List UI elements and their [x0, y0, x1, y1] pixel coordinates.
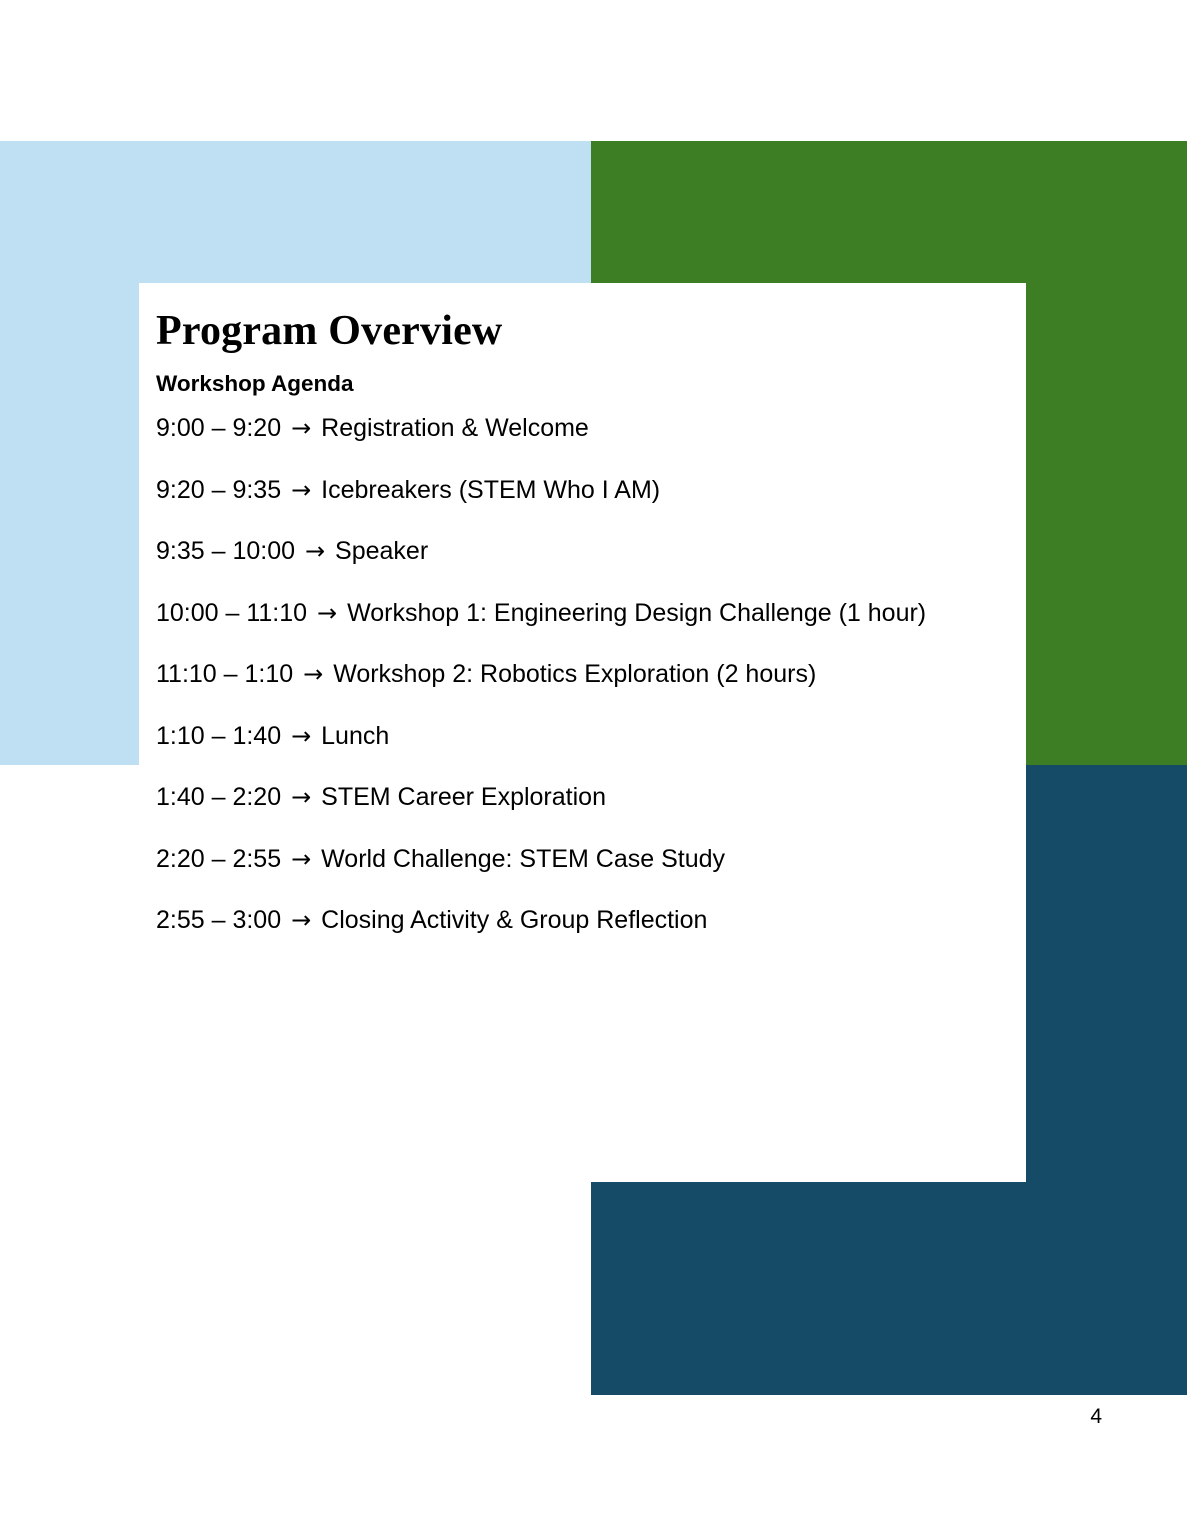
arrow-right-icon: →: [288, 414, 314, 442]
agenda-item: 9:20 – 9:35 → Icebreakers (STEM Who I AM…: [156, 473, 956, 509]
arrow-right-icon: →: [288, 476, 314, 504]
agenda-item-activity: Lunch: [321, 722, 389, 750]
agenda-item: 10:00 – 11:10 → Workshop 1: Engineering …: [156, 596, 956, 632]
arrow-right-icon: →: [288, 722, 314, 750]
agenda-item-time: 9:20 – 9:35: [156, 476, 281, 504]
agenda-item-activity: Closing Activity & Group Reflection: [321, 906, 707, 934]
agenda-item-activity: Speaker: [335, 537, 428, 565]
agenda-item-time: 1:10 – 1:40: [156, 722, 281, 750]
agenda-item: 2:20 – 2:55 → World Challenge: STEM Case…: [156, 842, 956, 878]
arrow-right-icon: →: [300, 660, 326, 688]
agenda-item: 9:00 – 9:20 → Registration & Welcome: [156, 411, 956, 447]
content-card: Program Overview Workshop Agenda 9:00 – …: [139, 283, 1026, 1182]
arrow-right-icon: →: [288, 906, 314, 934]
page-number: 4: [0, 1405, 1102, 1429]
agenda-item-activity: World Challenge: STEM Case Study: [321, 845, 725, 873]
agenda-item-activity: Icebreakers (STEM Who I AM): [321, 476, 660, 504]
arrow-right-icon: →: [314, 599, 340, 627]
agenda-item-time: 1:40 – 2:20: [156, 783, 281, 811]
agenda-item-time: 9:35 – 10:00: [156, 537, 295, 565]
agenda-item-time: 10:00 – 11:10: [156, 599, 307, 627]
agenda-item: 1:10 – 1:40 → Lunch: [156, 719, 956, 755]
agenda-item-activity: Registration & Welcome: [321, 414, 589, 442]
page-title: Program Overview: [156, 309, 986, 354]
agenda-item: 1:40 – 2:20 → STEM Career Exploration: [156, 780, 956, 816]
arrow-right-icon: →: [288, 845, 314, 873]
agenda-item-time: 2:20 – 2:55: [156, 845, 281, 873]
agenda-item-activity: Workshop 1: Engineering Design Challenge…: [347, 599, 926, 627]
decorative-block-teal-bottom: [591, 1182, 1187, 1395]
arrow-right-icon: →: [288, 783, 314, 811]
agenda-list: 9:00 – 9:20 → Registration & Welcome 9:2…: [156, 411, 986, 939]
arrow-right-icon: →: [302, 537, 328, 565]
agenda-item: 9:35 – 10:00 → Speaker: [156, 534, 956, 570]
agenda-item-time: 2:55 – 3:00: [156, 906, 281, 934]
agenda-item-time: 11:10 – 1:10: [156, 660, 293, 688]
agenda-item-activity: Workshop 2: Robotics Exploration (2 hour…: [333, 660, 816, 688]
section-subtitle: Workshop Agenda: [156, 370, 986, 397]
agenda-item-time: 9:00 – 9:20: [156, 414, 281, 442]
agenda-item: 2:55 – 3:00 → Closing Activity & Group R…: [156, 903, 956, 939]
agenda-item: 11:10 – 1:10 → Workshop 2: Robotics Expl…: [156, 657, 956, 693]
agenda-item-activity: STEM Career Exploration: [321, 783, 606, 811]
document-page: Program Overview Workshop Agenda 9:00 – …: [0, 0, 1187, 1536]
